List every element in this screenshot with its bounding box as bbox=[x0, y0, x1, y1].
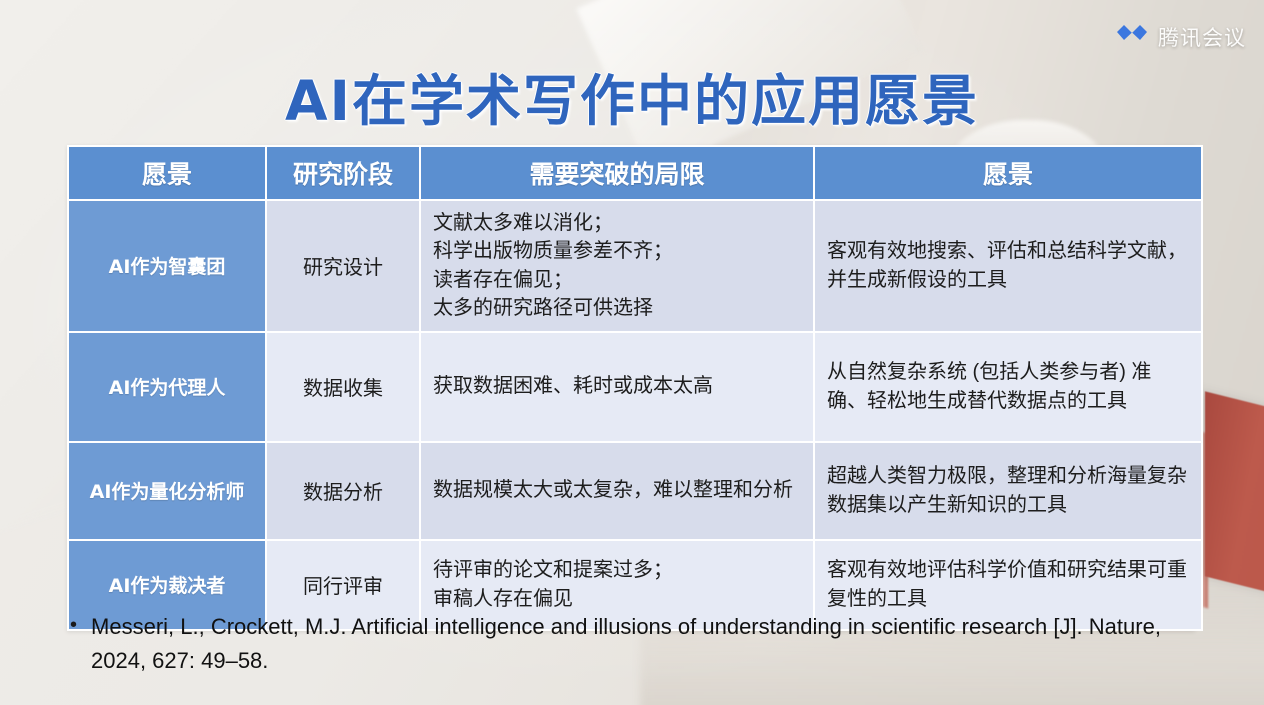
cell-limits: 数据规模太大或太复杂，难以整理和分析 bbox=[421, 443, 813, 539]
tencent-meeting-watermark: 腾讯会议 bbox=[1115, 22, 1246, 52]
column-header-vision: 愿景 bbox=[815, 147, 1201, 199]
cell-stage: 研究设计 bbox=[267, 201, 419, 331]
citation-text: Messeri, L., Crockett, M.J. Artificial i… bbox=[91, 610, 1200, 678]
watermark-label: 腾讯会议 bbox=[1158, 22, 1246, 52]
vision-table: 愿景 研究阶段 需要突破的局限 愿景 AI作为智囊团 研究设计 文献太多难以消化… bbox=[67, 145, 1203, 631]
cell-vision: 从自然复杂系统 (包括人类参与者) 准确、轻松地生成替代数据点的工具 bbox=[815, 333, 1201, 441]
column-header-stage: 研究阶段 bbox=[267, 147, 419, 199]
table-row: AI作为智囊团 研究设计 文献太多难以消化； 科学出版物质量参差不齐； 读者存在… bbox=[69, 201, 1201, 331]
column-header-limits: 需要突破的局限 bbox=[421, 147, 813, 199]
cell-stage: 数据收集 bbox=[267, 333, 419, 441]
cell-vision: 客观有效地搜索、评估和总结科学文献，并生成新假设的工具 bbox=[815, 201, 1201, 331]
bullet-icon: • bbox=[70, 610, 77, 641]
column-header-role: 愿景 bbox=[69, 147, 265, 199]
cell-role: AI作为智囊团 bbox=[69, 201, 265, 331]
presentation-slide: 腾讯会议 AI在学术写作中的应用愿景 愿景 研究阶段 需要突破的局限 愿景 AI… bbox=[0, 0, 1264, 705]
citation-block: • Messeri, L., Crockett, M.J. Artificial… bbox=[70, 610, 1200, 678]
cell-role: AI作为代理人 bbox=[69, 333, 265, 441]
tencent-meeting-logo-icon bbox=[1115, 23, 1149, 52]
table-row: AI作为量化分析师 数据分析 数据规模太大或太复杂，难以整理和分析 超越人类智力… bbox=[69, 443, 1201, 539]
cell-stage: 数据分析 bbox=[267, 443, 419, 539]
page-title: AI在学术写作中的应用愿景 bbox=[0, 56, 1264, 136]
vision-table-container: 愿景 研究阶段 需要突破的局限 愿景 AI作为智囊团 研究设计 文献太多难以消化… bbox=[67, 145, 1195, 631]
cell-limits: 获取数据困难、耗时或成本太高 bbox=[421, 333, 813, 441]
cell-limits: 文献太多难以消化； 科学出版物质量参差不齐； 读者存在偏见； 太多的研究路径可供… bbox=[421, 201, 813, 331]
table-row: AI作为代理人 数据收集 获取数据困难、耗时或成本太高 从自然复杂系统 (包括人… bbox=[69, 333, 1201, 441]
table-header-row: 愿景 研究阶段 需要突破的局限 愿景 bbox=[69, 147, 1201, 199]
cell-vision: 超越人类智力极限，整理和分析海量复杂数据集以产生新知识的工具 bbox=[815, 443, 1201, 539]
cell-role: AI作为量化分析师 bbox=[69, 443, 265, 539]
